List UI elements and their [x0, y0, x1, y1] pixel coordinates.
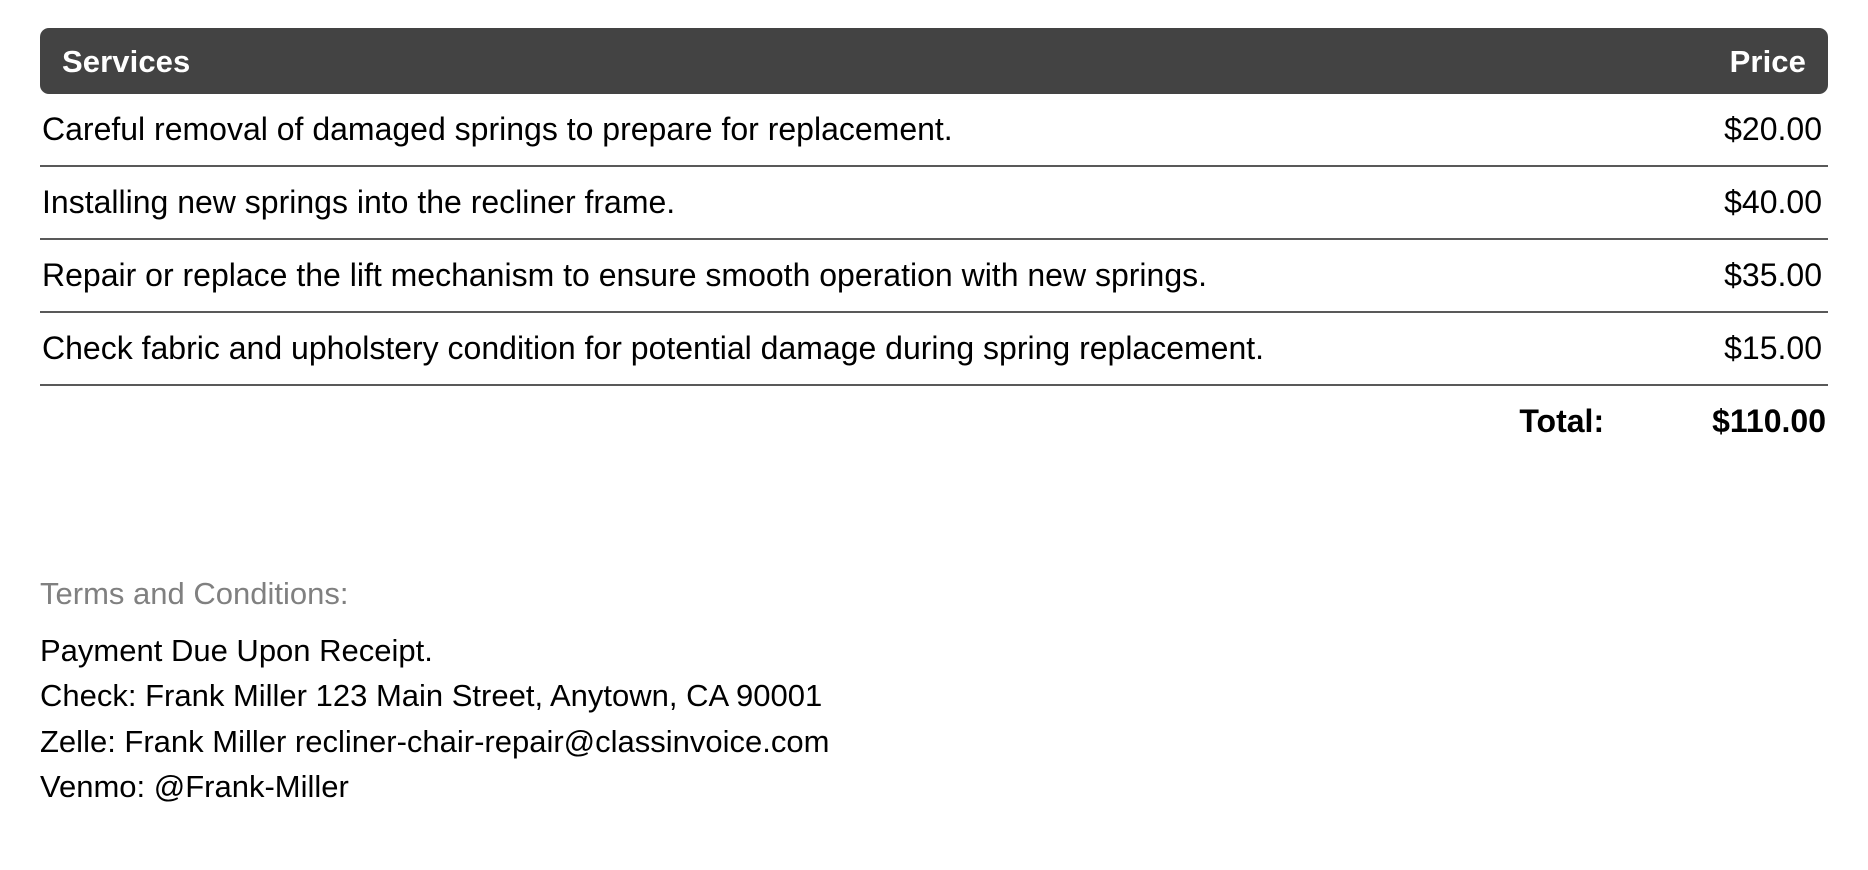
table-row: Repair or replace the lift mechanism to …: [40, 240, 1828, 313]
terms-line-zelle: Zelle: Frank Miller recliner-chair-repai…: [40, 719, 1828, 764]
service-price: $20.00: [1724, 111, 1824, 148]
total-row: Total: $110.00: [40, 386, 1828, 456]
terms-and-conditions: Terms and Conditions: Payment Due Upon R…: [40, 578, 1828, 809]
table-header-row: Services Price: [40, 28, 1828, 94]
total-value: $110.00: [1712, 403, 1826, 440]
service-price: $15.00: [1724, 330, 1824, 367]
invoice-page: Services Price Careful removal of damage…: [0, 0, 1868, 870]
table-row: Careful removal of damaged springs to pr…: [40, 94, 1828, 167]
terms-line-check: Check: Frank Miller 123 Main Street, Any…: [40, 673, 1828, 718]
service-description: Careful removal of damaged springs to pr…: [42, 111, 953, 148]
service-price: $40.00: [1724, 184, 1824, 221]
service-description: Check fabric and upholstery condition fo…: [42, 330, 1264, 367]
table-row: Check fabric and upholstery condition fo…: [40, 313, 1828, 386]
service-price: $35.00: [1724, 257, 1824, 294]
total-label: Total:: [1519, 403, 1604, 440]
terms-line-venmo: Venmo: @Frank-Miller: [40, 764, 1828, 809]
table-row: Installing new springs into the recliner…: [40, 167, 1828, 240]
service-description: Repair or replace the lift mechanism to …: [42, 257, 1207, 294]
column-header-services: Services: [62, 46, 190, 77]
service-description: Installing new springs into the recliner…: [42, 184, 675, 221]
terms-title: Terms and Conditions:: [40, 578, 1828, 609]
column-header-price: Price: [1730, 46, 1806, 77]
terms-line-payment: Payment Due Upon Receipt.: [40, 628, 1828, 673]
services-table: Services Price Careful removal of damage…: [40, 28, 1828, 456]
